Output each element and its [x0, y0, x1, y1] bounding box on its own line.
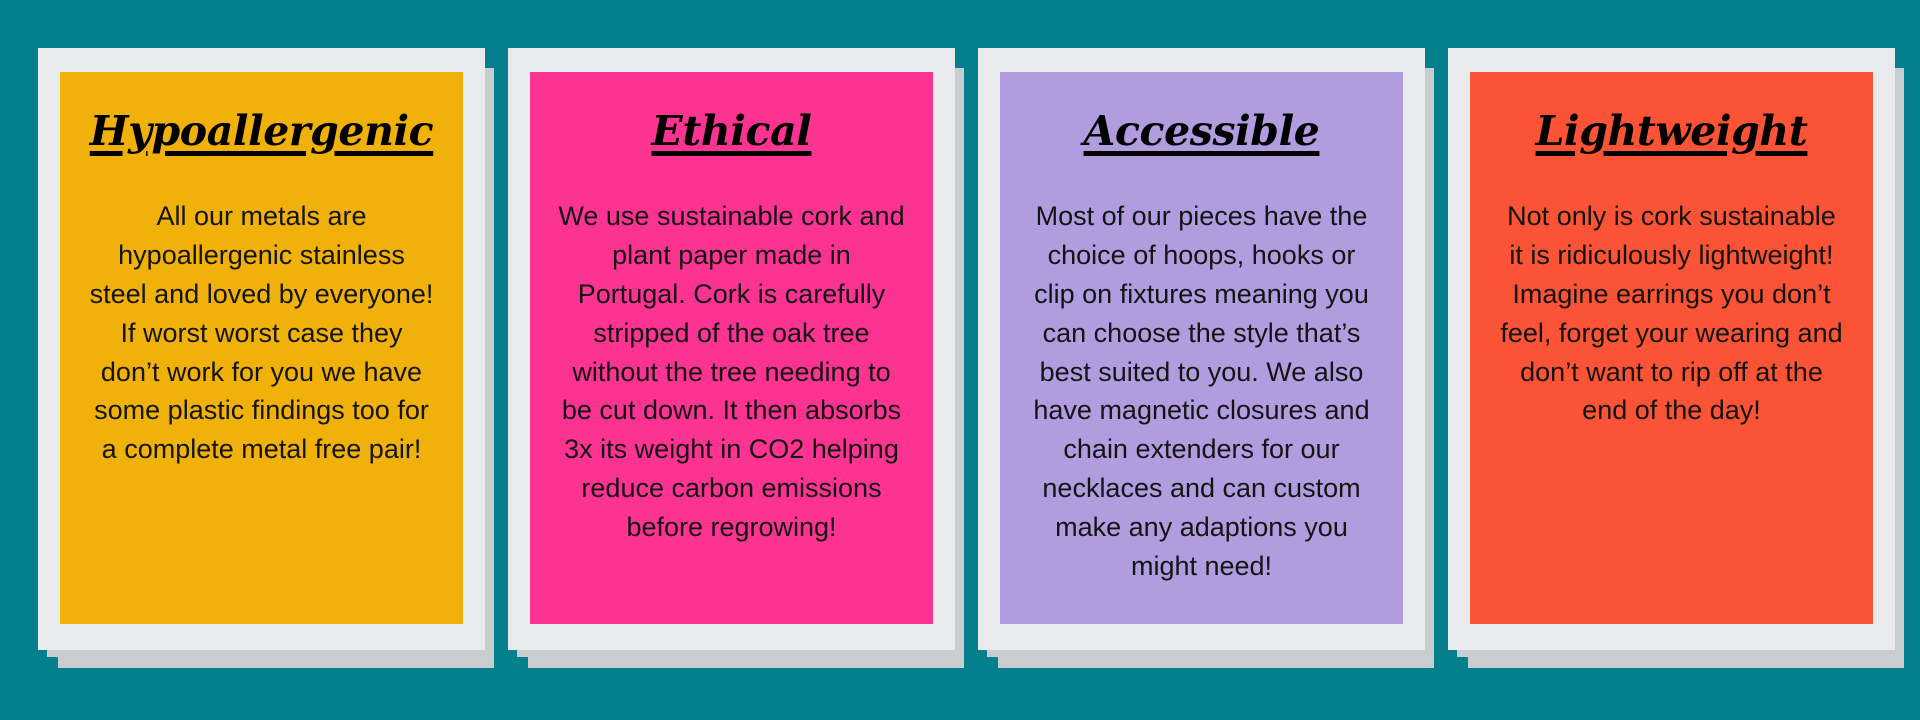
- feature-card-row: Hypoallergenic All our metals are hypoal…: [0, 0, 1920, 720]
- card-frame: Hypoallergenic All our metals are hypoal…: [38, 48, 485, 650]
- page-root: Hypoallergenic All our metals are hypoal…: [0, 0, 1920, 720]
- card-title: Lightweight: [1498, 110, 1845, 153]
- card-panel: Ethical We use sustainable cork and plan…: [530, 72, 933, 624]
- feature-card-accessible[interactable]: Accessible Most of our pieces have the c…: [978, 48, 1434, 668]
- feature-card-hypoallergenic[interactable]: Hypoallergenic All our metals are hypoal…: [38, 48, 494, 668]
- card-panel: Accessible Most of our pieces have the c…: [1000, 72, 1403, 624]
- bevel-corner-nick-bottom-left: [1457, 657, 1468, 668]
- feature-card-lightweight[interactable]: Lightweight Not only is cork sustainable…: [1448, 48, 1904, 668]
- card-body-text: Most of our pieces have the choice of ho…: [1028, 197, 1375, 586]
- card-body-text: Not only is cork sustainable it is ridic…: [1498, 197, 1845, 430]
- bevel-corner-nick-bottom-left: [47, 657, 58, 668]
- bevel-corner-nick-bottom-left: [987, 657, 998, 668]
- card-body-text: We use sustainable cork and plant paper …: [558, 197, 905, 547]
- card-frame: Lightweight Not only is cork sustainable…: [1448, 48, 1895, 650]
- feature-card-ethical[interactable]: Ethical We use sustainable cork and plan…: [508, 48, 964, 668]
- card-title: Ethical: [558, 110, 905, 153]
- card-title: Hypoallergenic: [88, 110, 435, 153]
- card-frame: Ethical We use sustainable cork and plan…: [508, 48, 955, 650]
- card-panel: Lightweight Not only is cork sustainable…: [1470, 72, 1873, 624]
- card-panel: Hypoallergenic All our metals are hypoal…: [60, 72, 463, 624]
- card-frame: Accessible Most of our pieces have the c…: [978, 48, 1425, 650]
- bevel-corner-nick-bottom-left: [517, 657, 528, 668]
- card-body-text: All our metals are hypoallergenic stainl…: [88, 197, 435, 469]
- card-title: Accessible: [1028, 110, 1375, 153]
